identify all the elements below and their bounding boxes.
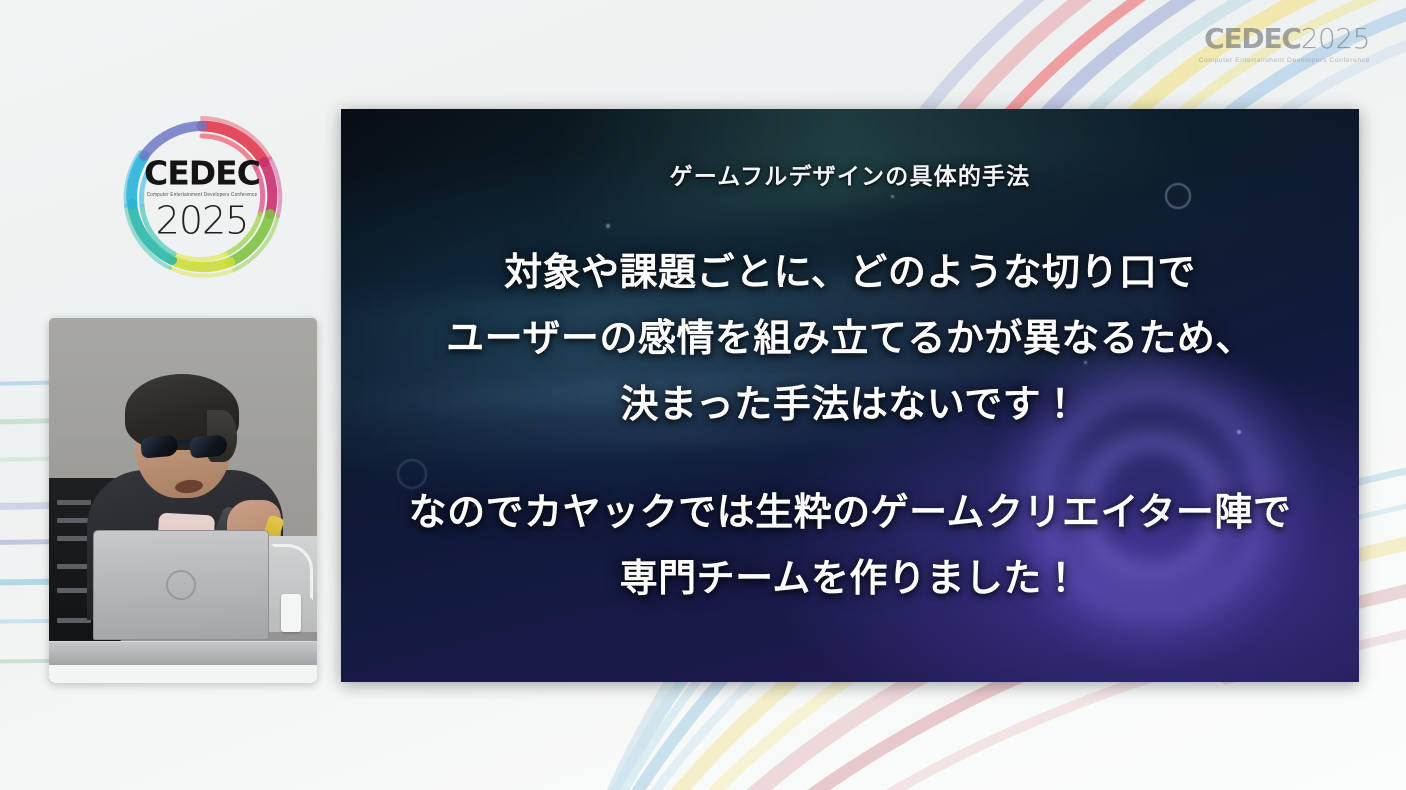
desk-surface [49,641,317,667]
cedec-corner-logo: CEDEC2025 Computer Entertainment Develop… [1198,25,1370,64]
cedec-corner-tagline: Computer Entertainment Developers Confer… [1198,57,1370,64]
slide-decor-dot [606,224,610,228]
cedec-circle-tagline: Computer Entertainment Developers Confer… [116,192,288,197]
power-cable [271,544,313,600]
power-adapter [281,594,301,632]
presentation-stream-stage: CEDEC Computer Entertainment Developers … [0,0,1406,790]
slide-line: ユーザーの感情を組み立てるかが異なるため、 [341,305,1359,371]
cedec-circle-wordmark-text: CEDEC [116,157,288,190]
slide-line: 専門チームを作りました！ [341,545,1359,611]
cedec-corner-wordmark-text: CEDEC [1204,22,1301,55]
cedec-circle-year: 2025 [116,201,288,239]
slide-paragraph: 対象や課題ごとに、どのような切り口で ユーザーの感情を組み立てるかが異なるため、… [341,239,1359,437]
slide-line: 対象や課題ごとに、どのような切り口で [341,239,1359,305]
cedec-circle-logo: CEDEC Computer Entertainment Developers … [116,112,288,284]
speaker-sunglasses [141,436,227,457]
slide-paragraph: なのでカヤックでは生粋のゲームクリエイター陣で 専門チームを作りました！ [341,479,1359,611]
cedec-circle-wordmark: CEDEC Computer Entertainment Developers … [116,157,288,240]
cedec-corner-year: 2025 [1301,22,1370,55]
slide-title: ゲームフルデザインの具体的手法 [341,157,1359,191]
presentation-slide[interactable]: ゲームフルデザインの具体的手法 対象や課題ごとに、どのような切り口で ユーザーの… [341,109,1359,682]
slide-line: 決まった手法はないです！ [341,371,1359,437]
laptop [93,530,269,640]
slide-line: なのでカヤックでは生粋のゲームクリエイター陣で [341,479,1359,545]
slide-decor-dot [891,195,894,198]
cedec-corner-wordmark-row: CEDEC2025 [1198,25,1370,53]
desk-front-panel [49,665,317,683]
slide-body: 対象や課題ごとに、どのような切り口で ユーザーの感情を組み立てるかが異なるため、… [341,239,1359,611]
speaker-camera-feed[interactable] [49,318,317,683]
